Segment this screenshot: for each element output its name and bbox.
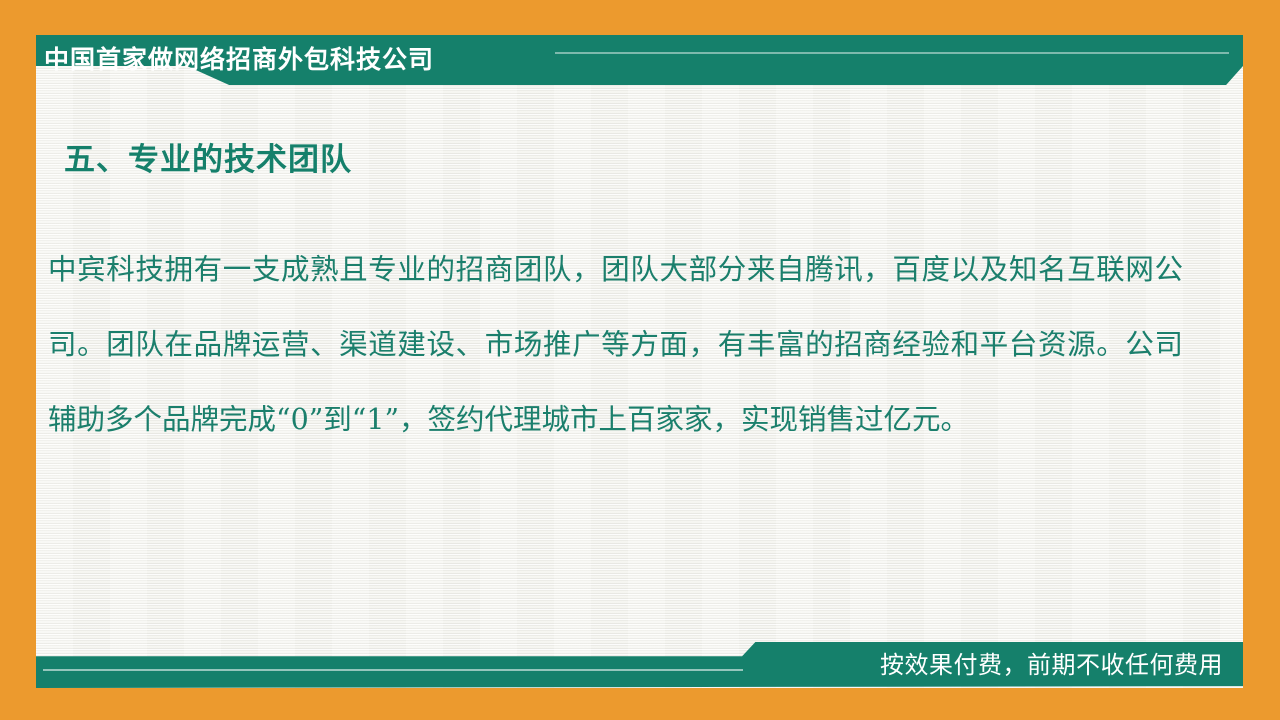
header-banner-text: 中国首家做网络招商外包科技公司 <box>44 38 434 82</box>
header-accent-line <box>555 52 1229 54</box>
frame-left-border <box>0 0 36 720</box>
slide: 中国首家做网络招商外包科技公司 五、专业的技术团队 中宾科技拥有一支成熟且专业的… <box>0 0 1280 720</box>
section-heading: 五、专业的技术团队 <box>64 134 352 179</box>
body-paragraph: 中宾科技拥有一支成熟且专业的招商团队，团队大部分来自腾讯，百度以及知名互联网公司… <box>48 232 1183 457</box>
footer-accent-line <box>43 669 743 671</box>
header-banner: 中国首家做网络招商外包科技公司 <box>36 35 1243 85</box>
footer-tagline: 按效果付费，前期不收任何费用 <box>880 647 1223 683</box>
frame-top-border <box>0 0 1280 35</box>
frame-right-border <box>1243 0 1280 720</box>
frame-bottom-border <box>0 688 1280 720</box>
footer-banner: 按效果付费，前期不收任何费用 <box>36 642 1243 688</box>
